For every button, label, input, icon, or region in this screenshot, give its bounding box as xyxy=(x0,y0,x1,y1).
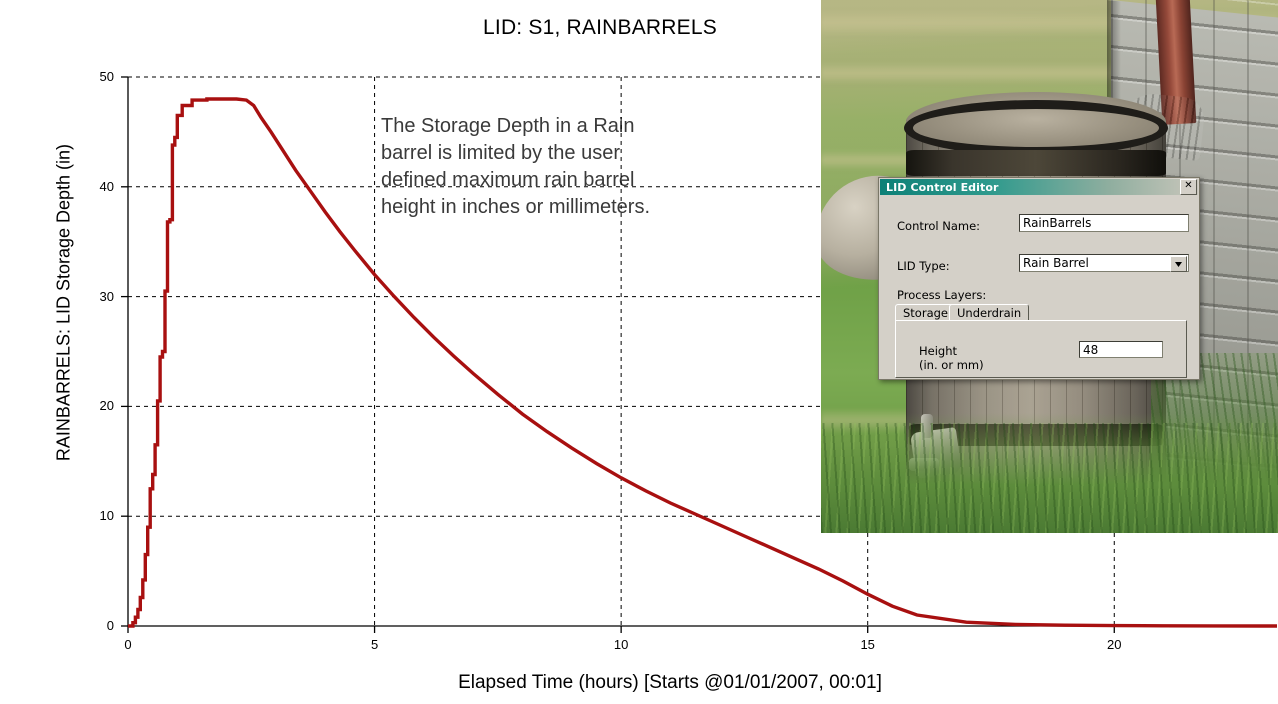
lid-control-editor-dialog[interactable]: LID Control Editor ✕ Control Name: RainB… xyxy=(878,177,1200,380)
process-layers-label: Process Layers: xyxy=(897,288,986,302)
height-label: Height xyxy=(919,344,957,358)
tab-underdrain[interactable]: Underdrain xyxy=(949,304,1029,321)
lid-type-label: LID Type: xyxy=(897,259,950,273)
y-tick-label: 10 xyxy=(84,508,114,523)
y-tick-label: 30 xyxy=(84,289,114,304)
y-tick-label: 20 xyxy=(84,398,114,413)
height-units-label: (in. or mm) xyxy=(919,358,984,372)
y-tick-label: 40 xyxy=(84,179,114,194)
x-tick-label: 15 xyxy=(853,637,883,652)
y-tick-label: 50 xyxy=(84,69,114,84)
lid-type-select[interactable]: Rain Barrel xyxy=(1019,254,1189,272)
x-tick-label: 10 xyxy=(606,637,636,652)
control-name-label: Control Name: xyxy=(897,219,980,233)
close-icon[interactable]: ✕ xyxy=(1180,179,1197,195)
height-input[interactable]: 48 xyxy=(1079,341,1163,358)
control-name-input[interactable]: RainBarrels xyxy=(1019,214,1189,232)
barrel-hoop-top xyxy=(906,150,1166,176)
y-tick-label: 0 xyxy=(84,618,114,633)
dialog-title-bar[interactable]: LID Control Editor ✕ xyxy=(880,179,1198,195)
process-layers-tabstrip: Storage Underdrain xyxy=(895,304,1185,321)
dialog-title-text: LID Control Editor xyxy=(886,181,999,194)
grass-blades xyxy=(821,423,1278,533)
barrel-rim xyxy=(904,100,1168,156)
chevron-down-icon[interactable] xyxy=(1170,256,1187,272)
x-tick-label: 0 xyxy=(113,637,143,652)
lid-type-value: Rain Barrel xyxy=(1023,256,1089,270)
tab-storage[interactable]: Storage xyxy=(895,304,956,321)
x-tick-label: 20 xyxy=(1099,637,1129,652)
x-tick-label: 5 xyxy=(360,637,390,652)
